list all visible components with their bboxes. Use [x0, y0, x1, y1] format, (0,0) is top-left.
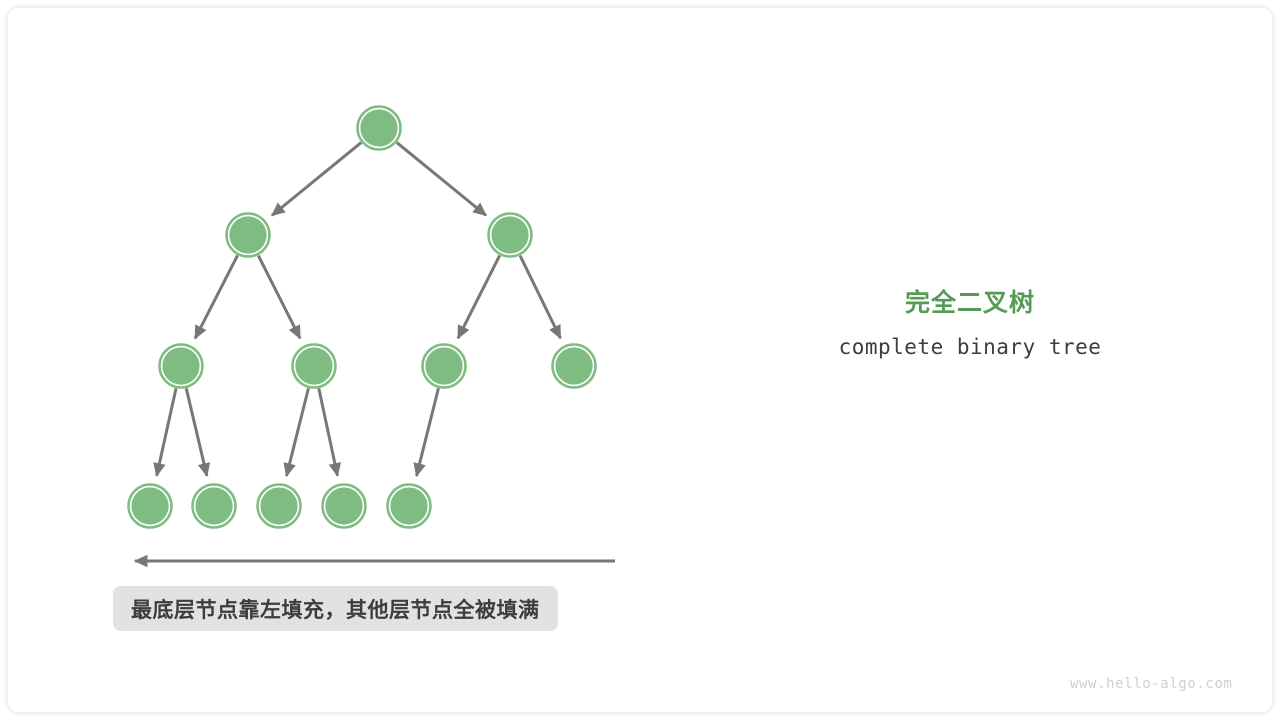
watermark: www.hello-algo.com — [1070, 676, 1233, 692]
tree-node — [387, 484, 431, 528]
caption-badge: 最底层节点靠左填充，其他层节点全被填满 — [113, 586, 558, 631]
tree-node-fill — [196, 488, 232, 524]
legend-block: 完全二叉树 complete binary tree — [790, 288, 1150, 359]
caption-text: 最底层节点靠左填充，其他层节点全被填满 — [131, 594, 540, 624]
tree-edges — [157, 143, 561, 476]
tree-node — [292, 344, 336, 388]
tree-nodes — [128, 106, 596, 528]
tree-edge — [397, 143, 486, 216]
tree-node — [322, 484, 366, 528]
screenshot-root: 完全二叉树 complete binary tree 最底层节点靠左填充，其他层… — [0, 0, 1280, 720]
tree-node — [192, 484, 236, 528]
tree-node-fill — [163, 348, 199, 384]
tree-edge — [287, 388, 309, 476]
tree-node-fill — [261, 488, 297, 524]
tree-node-fill — [230, 217, 266, 253]
tree-node-fill — [556, 348, 592, 384]
tree-node — [159, 344, 203, 388]
tree-node-fill — [492, 217, 528, 253]
tree-node-fill — [296, 348, 332, 384]
tree-node-fill — [426, 348, 462, 384]
tree-node — [357, 106, 401, 150]
tree-edge — [319, 388, 338, 475]
tree-edge — [195, 255, 237, 338]
tree-edge — [157, 388, 176, 475]
tree-node-fill — [391, 488, 427, 524]
tree-node — [128, 484, 172, 528]
tree-edge — [458, 256, 500, 339]
legend-subtitle: complete binary tree — [790, 335, 1150, 359]
tree-edge — [520, 256, 560, 338]
tree-edge — [417, 388, 439, 476]
tree-node — [257, 484, 301, 528]
tree-node-fill — [326, 488, 362, 524]
tree-node-fill — [361, 110, 397, 146]
tree-edge — [186, 388, 207, 475]
tree-node — [552, 344, 596, 388]
tree-node-fill — [132, 488, 168, 524]
tree-edge — [258, 256, 300, 339]
tree-node — [488, 213, 532, 257]
tree-node — [226, 213, 270, 257]
legend-title: 完全二叉树 — [790, 288, 1150, 318]
tree-node — [422, 344, 466, 388]
tree-edge — [272, 143, 361, 216]
